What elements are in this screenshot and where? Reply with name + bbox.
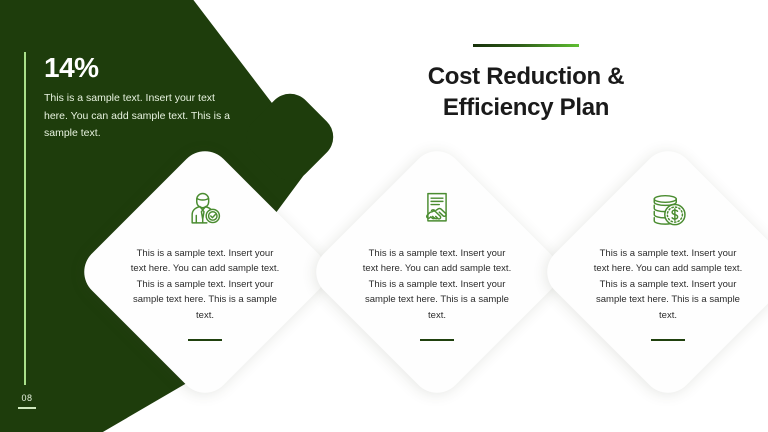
- left-accent-line: [24, 52, 26, 385]
- title-block: Cost Reduction & Efficiency Plan: [396, 44, 656, 123]
- page-number: 08: [18, 394, 36, 409]
- stat-value: 14%: [44, 53, 240, 82]
- page-number-value: 08: [18, 394, 36, 403]
- businessman-verified-icon: [120, 186, 290, 234]
- page-number-rule: [18, 407, 36, 409]
- slide-canvas: 14% This is a sample text. Insert your t…: [0, 0, 768, 432]
- card-text-1: This is a sample text. Insert your text …: [120, 246, 290, 323]
- handshake-agreement-icon: [352, 186, 522, 234]
- card-rule-1: [188, 339, 222, 342]
- title-accent-rule: [473, 44, 579, 47]
- card-text-2: This is a sample text. Insert your text …: [352, 246, 522, 323]
- stat-block: 14% This is a sample text. Insert your t…: [44, 53, 240, 142]
- stat-description: This is a sample text. Insert your text …: [44, 90, 240, 142]
- card-text-3: This is a sample text. Insert your text …: [583, 246, 753, 323]
- card-rule-3: [651, 339, 685, 342]
- page-title: Cost Reduction & Efficiency Plan: [396, 61, 656, 123]
- card-content-1: This is a sample text. Insert your text …: [120, 186, 290, 341]
- coins-dollar-icon: [583, 186, 753, 234]
- card-rule-2: [420, 339, 454, 342]
- card-content-2: This is a sample text. Insert your text …: [352, 186, 522, 341]
- card-content-3: This is a sample text. Insert your text …: [583, 186, 753, 341]
